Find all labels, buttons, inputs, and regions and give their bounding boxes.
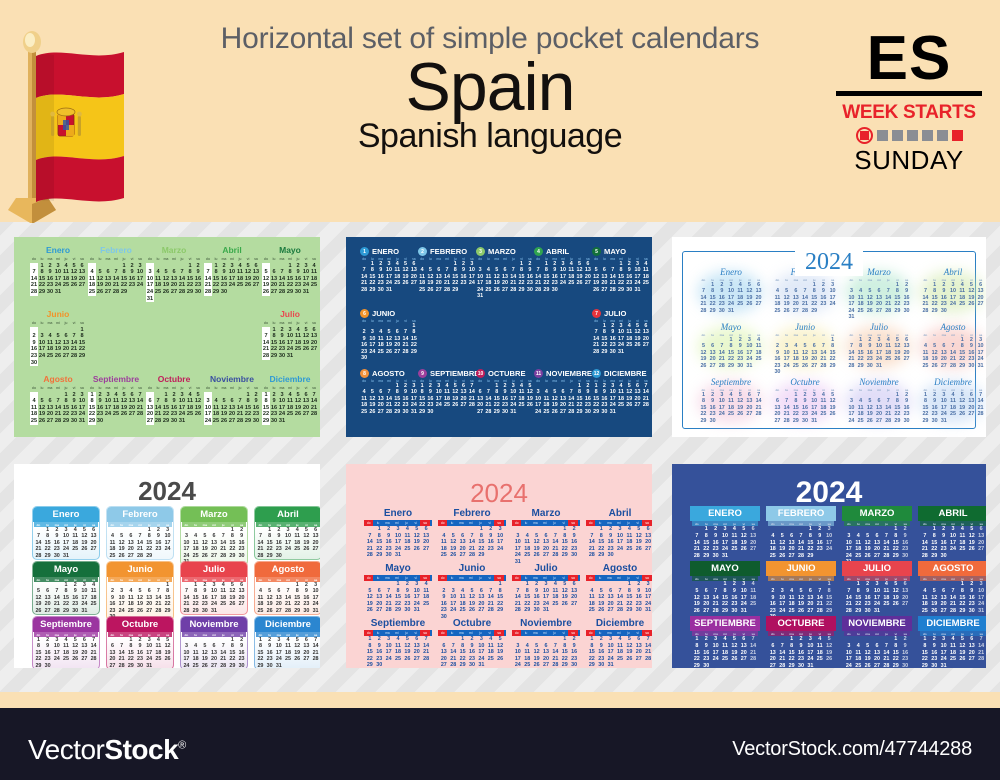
week-row: 28293031 (262, 353, 318, 360)
day-cell (575, 287, 583, 293)
day-cell: 3 (606, 636, 615, 643)
day-cell (270, 263, 278, 270)
day-cell: 10 (412, 588, 421, 595)
day-cell (212, 392, 220, 399)
month-number-badge: 2 (418, 247, 427, 256)
day-cell (477, 581, 486, 588)
weekday-header: mi (540, 630, 549, 636)
day-cell: 6 (252, 263, 260, 270)
day-cell: 31 (541, 607, 550, 614)
day-cell: 8 (458, 643, 467, 650)
day-cell (162, 296, 170, 303)
day-cell: 24 (617, 342, 625, 348)
day-cell: 26 (403, 656, 412, 663)
day-cell: 12 (495, 643, 504, 650)
day-cell: 9 (634, 588, 643, 595)
day-cell: 30 (274, 553, 283, 559)
day-cell: 5 (560, 581, 569, 588)
day-cell: 17 (534, 402, 542, 408)
day-cell (302, 353, 310, 360)
day-cell: 26 (597, 607, 606, 614)
month-grid: dolumamijuvisa12345678910111213141516171… (418, 378, 476, 415)
day-cell: 29 (806, 553, 815, 560)
day-cell (467, 526, 476, 533)
week-row: 15161718192021 (920, 650, 986, 657)
weekday-header: ju (294, 385, 302, 392)
month-grid: dolumamijuvisa12345678910111213141516171… (534, 256, 592, 293)
day-cell: 26 (449, 552, 458, 559)
day-cell (136, 418, 144, 425)
day-cell: 25 (108, 553, 117, 559)
day-cell: 7 (551, 643, 560, 650)
day-cell: 28 (782, 418, 791, 424)
week-row: 12131415161718 (692, 595, 758, 602)
day-cell (293, 663, 302, 668)
day-cell (625, 662, 634, 668)
day-cell: 31 (976, 608, 985, 615)
month-grid: dolumamijuvisa12345678910111213141516171… (108, 522, 172, 559)
day-cell: 2 (815, 526, 824, 533)
month-grid: 1234567891011121314151617181920212223242… (365, 526, 431, 559)
day-cell: 27 (541, 662, 550, 668)
day-cell: 30 (900, 553, 909, 560)
day-cell: 7 (486, 588, 495, 595)
day-cell (625, 409, 633, 415)
week-row: 123 (768, 526, 834, 533)
weekday-header: ju (294, 256, 302, 263)
day-cell: 1 (78, 327, 86, 334)
day-cell: 30 (717, 308, 726, 314)
day-cell: 1 (270, 327, 278, 334)
day-cell: 16 (634, 594, 643, 601)
day-cell: 28 (236, 418, 244, 425)
day-cell: 12 (863, 650, 872, 657)
day-cell: 28 (587, 552, 596, 559)
day-cell: 19 (692, 601, 701, 608)
week-row: 15161718192021 (262, 405, 318, 412)
week-row: 2930 (692, 663, 758, 668)
day-cell: 30 (501, 409, 509, 415)
day-cell: 4 (625, 526, 634, 533)
day-cell: 25 (393, 656, 402, 663)
day-cell (900, 608, 909, 615)
day-cell: 8 (162, 398, 170, 405)
day-cell: 13 (584, 267, 592, 273)
day-cell (421, 552, 430, 559)
day-cell: 29 (244, 418, 252, 425)
country-code: ES (834, 30, 984, 89)
day-cell: 6 (702, 588, 711, 595)
day-cell: 3 (541, 581, 550, 588)
day-cell: 27 (78, 282, 86, 289)
day-cell (154, 553, 163, 559)
day-cell: 21 (551, 546, 560, 553)
week-row: 2930 (418, 409, 476, 415)
day-cell (958, 308, 967, 314)
day-cell: 26 (782, 308, 791, 314)
week-row: 78910111213 (587, 533, 652, 540)
weekday-header: do (204, 256, 212, 263)
day-cell: 18 (294, 340, 302, 347)
day-cell: 19 (493, 280, 501, 286)
day-cell: 20 (748, 540, 757, 547)
weekday-header: lu (447, 575, 456, 581)
day-cell: 29 (587, 662, 596, 668)
day-cell: 24 (541, 601, 550, 608)
day-cell: 31 (847, 314, 856, 320)
day-cell: 6 (128, 392, 136, 399)
weekday-header: vi (186, 385, 194, 392)
day-cell: 17 (278, 405, 286, 412)
day-cell: 22 (262, 411, 270, 418)
day-cell: 3 (720, 526, 729, 533)
week-row: 31 (146, 296, 202, 303)
day-cell: 1 (891, 526, 900, 533)
week-dot-icon (907, 130, 918, 141)
day-cell (70, 360, 78, 367)
day-cell: 19 (162, 282, 170, 289)
day-cell: 7 (467, 533, 476, 540)
day-cell: 20 (393, 342, 401, 348)
day-cell: 16 (730, 595, 739, 602)
day-cell: 10 (513, 649, 522, 656)
day-cell (178, 296, 186, 303)
day-cell: 10 (609, 389, 617, 395)
weekday-header: ma (605, 575, 614, 581)
day-cell (410, 287, 418, 293)
day-cell: 30 (70, 418, 78, 425)
day-cell: 28 (484, 409, 492, 415)
day-cell: 3 (844, 643, 853, 650)
month-grid: dolumamijuvisa12345678910111213141516171… (773, 277, 837, 314)
day-cell: 3 (739, 581, 748, 588)
day-cell: 26 (730, 656, 739, 663)
day-cell: 26 (385, 349, 393, 355)
day-cell (787, 526, 796, 533)
day-cell: 25 (212, 418, 220, 425)
weekday-header: ju (236, 385, 244, 392)
day-cell: 8 (702, 533, 711, 540)
weekday-header: do (88, 256, 96, 263)
day-cell: 2 (70, 392, 78, 399)
day-cell: 5 (863, 643, 872, 650)
day-cell: 5 (958, 636, 967, 643)
day-cell: 31 (80, 608, 89, 614)
month-name: Julio (844, 322, 914, 332)
day-cell: 29 (930, 308, 939, 314)
day-cell: 14 (844, 595, 853, 602)
day-cell: 13 (939, 595, 948, 602)
day-cell: 24 (778, 608, 787, 615)
day-cell: 13 (412, 643, 421, 650)
day-cell: 6 (643, 526, 652, 533)
day-cell: 23 (220, 282, 228, 289)
day-cell: 25 (567, 280, 575, 286)
week-row: 24252627282930 (182, 663, 246, 668)
day-cell (186, 418, 194, 425)
week-row: 19202122232425 (692, 601, 758, 608)
day-cell: 26 (865, 418, 874, 424)
day-cell: 26 (796, 608, 805, 615)
day-cell: 30 (270, 418, 278, 425)
calendar-card-pastel[interactable]: 2024 Enerodolumamijuvisa1234567891011121… (672, 237, 986, 437)
day-cell: 25 (773, 308, 782, 314)
day-cell: 12 (625, 643, 634, 650)
week-row: 15161718192021 (692, 650, 758, 657)
day-cell: 25 (920, 608, 929, 615)
day-cell: 10 (806, 643, 815, 650)
week-row: 78910111213 (262, 333, 318, 340)
calendar-card-blue[interactable]: 1ENEROdolumamijuvisa12345678910111213141… (346, 237, 652, 437)
day-cell: 18 (815, 650, 824, 657)
day-cell: 25 (458, 607, 467, 614)
day-cell (384, 581, 393, 588)
day-cell: 21 (443, 280, 451, 286)
day-cell: 17 (948, 540, 957, 547)
week-row: 24252627282930 (847, 418, 911, 424)
day-cell: 23 (194, 282, 202, 289)
day-cell: 5 (194, 392, 202, 399)
day-cell: 18 (62, 276, 70, 283)
day-cell: 3 (38, 333, 46, 340)
calendar-card-pink[interactable]: 2024 Enerodolumamijuvisa1234567891011121… (346, 464, 652, 668)
month-grid: dolumamijuvisa12345678910111213141516171… (360, 318, 418, 361)
day-cell: 6 (62, 333, 70, 340)
day-cell (70, 289, 78, 296)
month-block: DICIEMBREdolumamijuvisa12345678910111213… (918, 616, 986, 668)
day-cell: 28 (567, 409, 575, 415)
week-row: 293031 (920, 663, 986, 668)
day-cell: 28 (283, 608, 292, 614)
day-cell: 27 (600, 287, 608, 293)
day-cell: 5 (403, 636, 412, 643)
day-cell: 6 (302, 392, 310, 399)
day-cell (920, 526, 929, 533)
day-cell: 20 (435, 280, 443, 286)
week-row: 6789101112 (768, 643, 834, 650)
day-cell: 28 (401, 349, 409, 355)
day-cell: 20 (228, 411, 236, 418)
day-cell: 17 (541, 594, 550, 601)
day-cell: 8 (477, 533, 486, 540)
day-cell: 19 (560, 594, 569, 601)
day-cell: 24 (278, 411, 286, 418)
day-cell: 29 (191, 608, 200, 614)
week-row: 2526272829 (768, 553, 834, 560)
month-block: NOVIEMBREdolumamijuvisa12345678910111213… (842, 616, 912, 668)
week-row: 16171819202122 (30, 346, 86, 353)
day-cell: 11 (310, 269, 318, 276)
week-row: 3456789 (204, 398, 260, 405)
day-cell (88, 263, 96, 270)
day-cell: 14 (54, 405, 62, 412)
day-cell: 20 (872, 546, 881, 553)
month-block: SEPTIEMBREdolumamijuvisa1234567891011121… (690, 616, 760, 668)
day-cell: 2 (900, 526, 909, 533)
day-cell: 22 (493, 402, 501, 408)
day-cell (112, 263, 120, 270)
day-cell: 25 (62, 282, 70, 289)
day-cell: 21 (421, 649, 430, 656)
day-cell (385, 355, 393, 361)
day-cell: 8 (495, 588, 504, 595)
day-cell: 29 (625, 607, 634, 614)
day-cell: 6 (541, 643, 550, 650)
month-grid: dolumamijuvisa12345678910111213141516171… (256, 632, 320, 668)
week-row: 282930 (587, 552, 652, 559)
day-cell: 28 (468, 402, 476, 408)
day-cell: 22 (244, 411, 252, 418)
day-cell: 11 (523, 539, 532, 546)
day-cell: 25 (542, 409, 550, 415)
day-cell: 12 (739, 533, 748, 540)
week-row: 2728293031 (768, 663, 834, 668)
month-grid: dolumamijuvisa12345678910111213141516171… (699, 332, 763, 369)
day-cell: 10 (939, 643, 948, 650)
calendar-card-white[interactable]: 2024 Enerodolumamijuvisa1234567891011121… (14, 464, 320, 668)
day-cell: 10 (468, 267, 476, 273)
day-cell: 20 (458, 546, 467, 553)
day-cell: 2 (796, 636, 805, 643)
month-name: Septiembre (364, 618, 432, 629)
day-cell: 27 (791, 308, 800, 314)
day-cell (501, 293, 509, 299)
day-cell (104, 418, 112, 425)
day-cell: 27 (569, 601, 578, 608)
month-grid: dolumamijuvisa12345678910111213141516171… (262, 385, 318, 425)
day-cell: 30 (900, 663, 909, 668)
day-cell (844, 526, 853, 533)
weekday-header: ma (278, 320, 286, 327)
month-block: Agostodolumamijuvisa12345678910111213141… (254, 561, 320, 615)
week-row: 123 (920, 581, 986, 588)
day-cell: 7 (112, 269, 120, 276)
day-cell: 20 (541, 546, 550, 553)
day-cell: 19 (467, 601, 476, 608)
day-cell: 25 (236, 282, 244, 289)
day-cell (939, 581, 948, 588)
day-cell: 24 (643, 601, 652, 608)
day-cell: 21 (534, 280, 542, 286)
day-cell (782, 369, 791, 375)
week-row: 262728293031 (592, 287, 650, 293)
day-cell: 25 (403, 546, 412, 553)
day-cell: 30 (30, 360, 38, 367)
month-name: Abril (918, 267, 986, 277)
week-row: 12 (513, 636, 579, 643)
week-row: 30 (773, 369, 837, 375)
day-cell: 29 (597, 552, 606, 559)
day-cell: 27 (872, 663, 881, 668)
month-number-badge: 6 (360, 309, 369, 318)
day-cell (884, 314, 893, 320)
weekday-header: lu (38, 385, 46, 392)
month-grid: dolumamijuvisa12345678910111213141516171… (692, 576, 758, 614)
day-cell: 22 (393, 601, 402, 608)
day-cell: 1 (625, 581, 634, 588)
day-cell: 22 (806, 546, 815, 553)
day-cell: 28 (135, 553, 144, 559)
week-row: 14151617181920 (204, 276, 260, 283)
day-cell: 4 (958, 526, 967, 533)
day-cell: 1 (560, 526, 569, 533)
day-cell: 24 (711, 656, 720, 663)
day-cell: 3 (948, 526, 957, 533)
day-cell: 8 (720, 588, 729, 595)
month-grid: dolumamijuvisa12345678910111213141516171… (182, 632, 246, 668)
month-block: Juniodolumamijuvisa123456789101112131415… (30, 309, 86, 366)
day-cell: 22 (375, 546, 384, 553)
weekday-header: sa (78, 385, 86, 392)
week-row: 14151617181920 (30, 276, 86, 283)
day-cell: 29 (265, 553, 274, 559)
day-cell: 2 (711, 526, 720, 533)
day-cell: 17 (844, 546, 853, 553)
day-cell: 29 (560, 552, 569, 559)
month-name-text: ABRIL (546, 247, 569, 256)
day-cell: 24 (104, 411, 112, 418)
day-cell: 8 (270, 333, 278, 340)
day-cell (726, 418, 735, 424)
weekday-header: do (438, 520, 447, 526)
day-cell: 20 (559, 402, 567, 408)
day-cell: 10 (633, 267, 641, 273)
calendar-card-navy[interactable]: 2024 ENEROdolumamijuvisa1234567891011121… (672, 464, 986, 668)
day-cell (711, 663, 720, 668)
day-cell: 7 (236, 398, 244, 405)
week-row: 45678910 (88, 269, 144, 276)
day-cell: 7 (882, 533, 891, 540)
weekday-header: sa (194, 385, 202, 392)
day-cell: 19 (412, 539, 421, 546)
week-row: 17181920212223 (844, 546, 910, 553)
weekday-header: lu (270, 320, 278, 327)
day-cell: 12 (54, 340, 62, 347)
calendar-card-green[interactable]: Enerodolumamijuvisa123456789101112131415… (14, 237, 320, 437)
day-cell: 28 (178, 289, 186, 296)
day-cell: 22 (575, 402, 583, 408)
day-cell (401, 287, 409, 293)
day-cell: 15 (495, 594, 504, 601)
day-cell: 6 (967, 636, 976, 643)
day-cell: 23 (551, 280, 559, 286)
day-cell (236, 289, 244, 296)
day-cell: 13 (768, 650, 777, 657)
day-cell: 22 (560, 546, 569, 553)
day-cell: 1 (186, 263, 194, 270)
day-cell: 28 (717, 363, 726, 369)
day-cell (220, 392, 228, 399)
day-cell (89, 608, 98, 614)
month-name: NOVIEMBRE (842, 616, 912, 631)
day-cell: 29 (62, 418, 70, 425)
day-cell (228, 608, 237, 614)
day-cell (513, 636, 522, 643)
day-cell: 26 (863, 663, 872, 668)
day-cell: 26 (244, 282, 252, 289)
day-cell: 29 (523, 607, 532, 614)
month-block: MAYOdolumamijuvisa1234567891011121314151… (690, 561, 760, 614)
day-cell: 22 (587, 656, 596, 663)
day-cell: 31 (302, 289, 310, 296)
month-block: 2FEBREROdolumamijuvisa123456789101112131… (418, 247, 476, 293)
day-cell: 2 (294, 263, 302, 270)
week-row: 2526272829 (418, 287, 476, 293)
day-cell: 6 (541, 533, 550, 540)
day-cell: 8 (88, 398, 96, 405)
weekday-header: do (512, 520, 521, 526)
day-cell: 12 (930, 595, 939, 602)
